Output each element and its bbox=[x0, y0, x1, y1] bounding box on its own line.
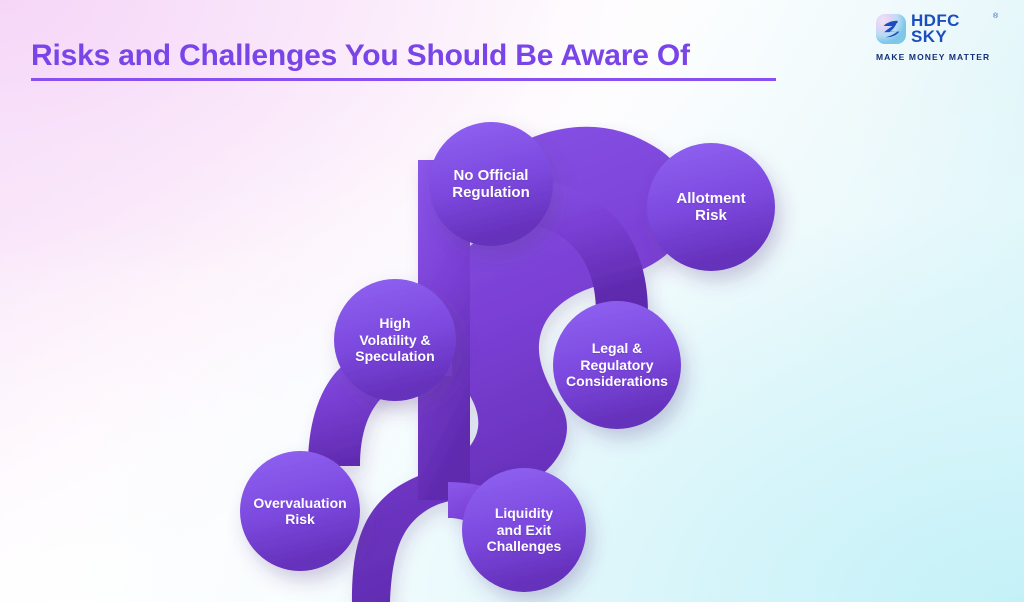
bubble-high-volatility-speculation[interactable] bbox=[334, 279, 456, 401]
infographic-canvas: Risks and Challenges You Should Be Aware… bbox=[0, 0, 1024, 602]
bubble-tree-diagram bbox=[0, 0, 1024, 602]
bubble-overvaluation-risk[interactable] bbox=[240, 451, 360, 571]
bubble-allotment-risk[interactable] bbox=[647, 143, 775, 271]
bubble-no-official-regulation[interactable] bbox=[429, 122, 553, 246]
bubble-legal-regulatory-considerations[interactable] bbox=[553, 301, 681, 429]
bubble-liquidity-and-exit-challenges[interactable] bbox=[462, 468, 586, 592]
